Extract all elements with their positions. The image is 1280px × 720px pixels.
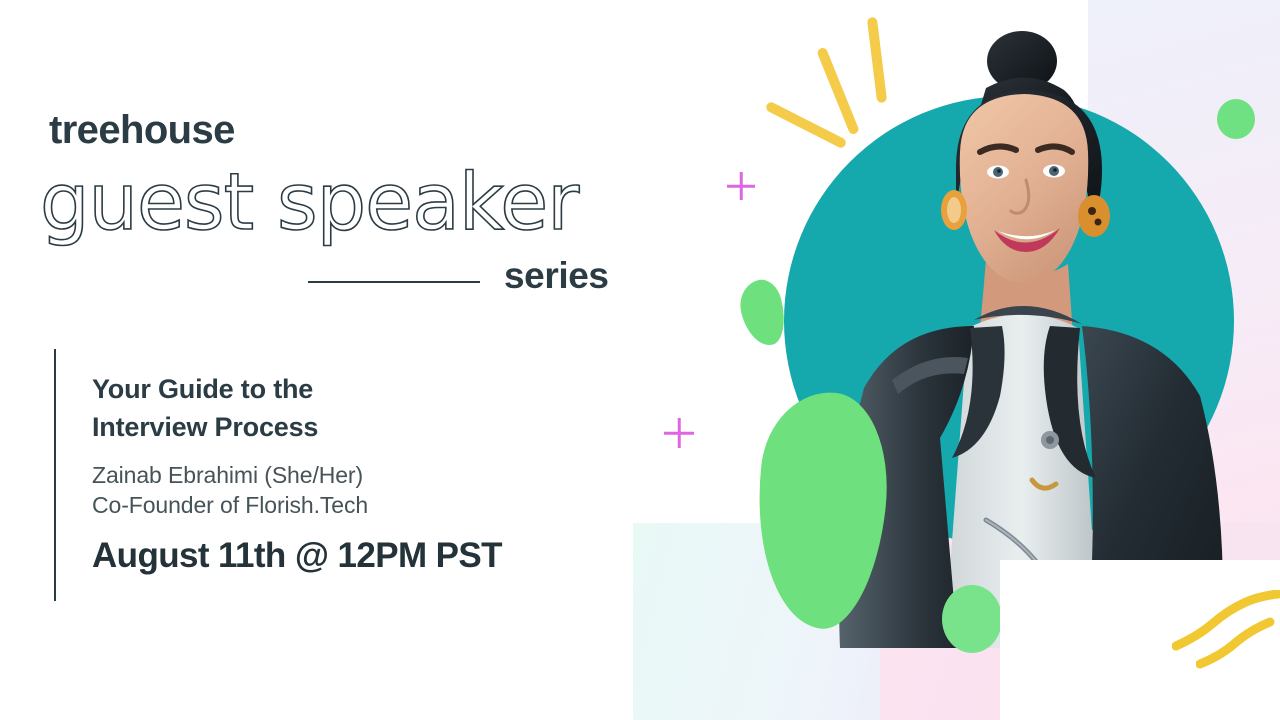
brand-wordmark: treehouse bbox=[49, 108, 235, 153]
talk-title-line-2: Interview Process bbox=[92, 408, 562, 446]
green-circle-dot-bottom-icon bbox=[942, 585, 1002, 653]
vertical-rule bbox=[54, 349, 56, 601]
speaker-name: Zainab Ebrahimi (She/Her) bbox=[92, 460, 363, 491]
green-bean-blob-icon bbox=[735, 276, 792, 350]
event-datetime: August 11th @ 12PM PST bbox=[92, 536, 502, 576]
speaker-photo bbox=[836, 28, 1256, 648]
magenta-plus-icon-top bbox=[727, 172, 755, 200]
series-row: series bbox=[308, 255, 638, 303]
headline-outline: guest speaker bbox=[40, 164, 578, 242]
magenta-plus-icon-middle bbox=[664, 418, 694, 448]
series-label: series bbox=[504, 255, 609, 297]
yellow-wavy-line-icon-2 bbox=[1196, 614, 1280, 676]
talk-title-line-1: Your Guide to the bbox=[92, 370, 562, 408]
speaker-role: Co-Founder of Florish.Tech bbox=[92, 490, 368, 521]
series-divider bbox=[308, 281, 480, 283]
promo-slide: treehouse guest speaker series Your Guid… bbox=[0, 0, 1280, 720]
talk-title: Your Guide to the Interview Process bbox=[92, 370, 562, 447]
